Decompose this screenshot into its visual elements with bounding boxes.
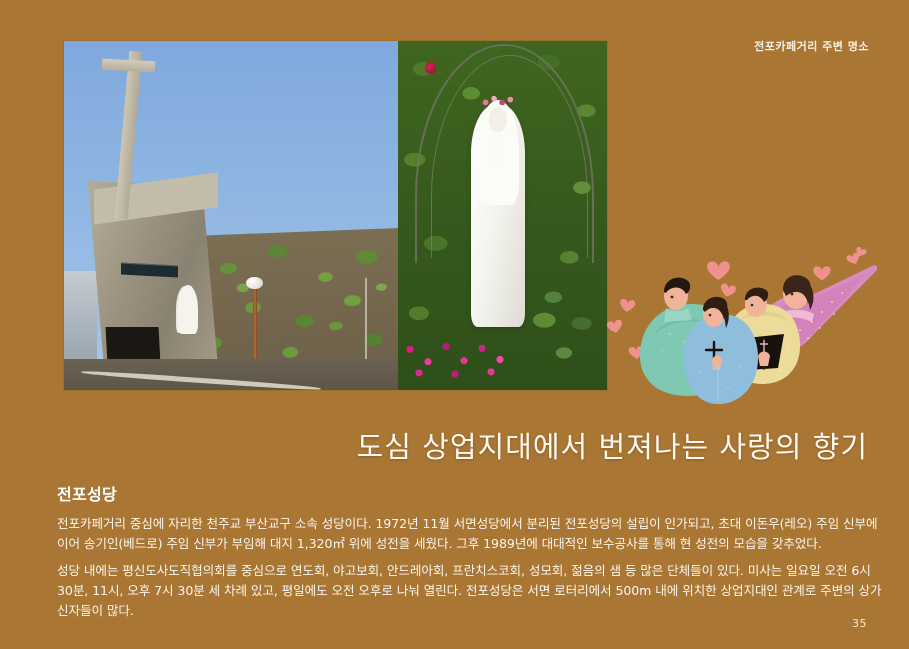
running-header: 전포카페거리 주변 명소	[754, 38, 869, 54]
page-root: 전포카페거리 주변 명소	[0, 0, 909, 649]
photo-strip	[64, 41, 607, 390]
church-exterior-photo	[64, 41, 398, 390]
article-paragraph-1: 전포카페거리 중심에 자리한 천주교 부산교구 소속 성당이다. 1972년 1…	[57, 514, 883, 555]
article-body: 전포성당 전포카페거리 중심에 자리한 천주교 부산교구 소속 성당이다. 19…	[57, 481, 883, 621]
article-paragraph-2: 성당 내에는 평신도사도직협의회를 중심으로 연도회, 야고보회, 안드레아회,…	[57, 561, 883, 622]
background-building	[64, 271, 97, 362]
page-headline: 도심 상업지대에서 번져나는 사랑의 향기	[357, 424, 868, 466]
praying-people-illustration	[600, 238, 900, 413]
article-subtitle: 전포성당	[57, 481, 883, 505]
statue-praying-hands	[490, 142, 503, 166]
page-number: 35	[852, 617, 867, 630]
mary-statue-photo	[398, 41, 607, 390]
red-rose	[425, 62, 435, 74]
flower-crown	[480, 92, 518, 111]
jesus-statue	[178, 285, 198, 334]
statue-head	[489, 107, 507, 131]
petunia-flowerbed	[398, 327, 548, 383]
lamp-globe	[246, 277, 263, 290]
